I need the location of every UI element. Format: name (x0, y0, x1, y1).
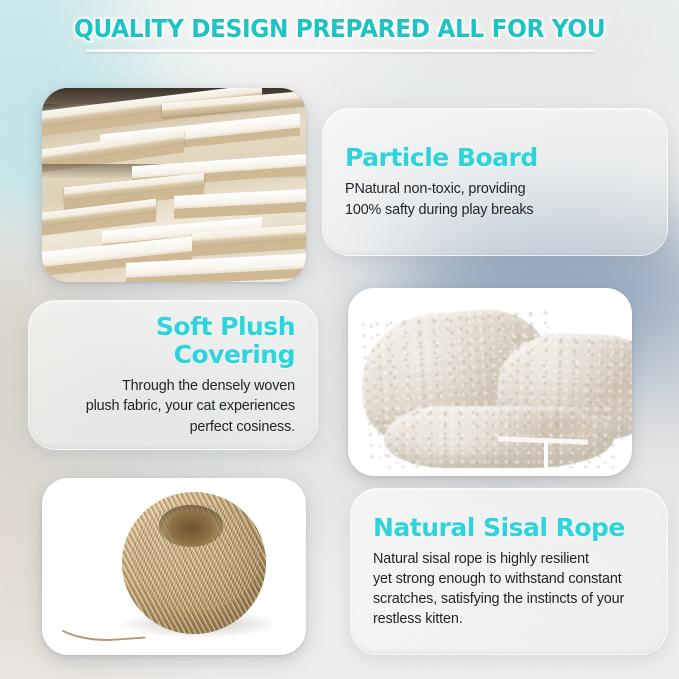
feature-heading-sisal-rope: Natural Sisal Rope (373, 514, 645, 542)
feature-heading-particle-board: Particle Board (345, 144, 645, 172)
feature-image-soft-plush (348, 288, 632, 476)
page-title: QUALITY DESIGN PREPARED ALL FOR YOU (74, 14, 605, 43)
feature-body-soft-plush: Through the densely woven plush fabric, … (51, 376, 295, 436)
feature-body-particle-board: PNatural non-toxic, providing 100% safty… (345, 179, 645, 219)
feature-body-line: 100% safty during play breaks (345, 200, 645, 220)
feature-body-line: PNatural non-toxic, providing (345, 179, 645, 199)
infographic-canvas: QUALITY DESIGN PREPARED ALL FOR YOU (0, 0, 679, 679)
feature-body-line: scratches, satisfying the instincts of y… (373, 589, 645, 609)
feature-body-line: Through the densely woven (51, 376, 295, 396)
feature-body-line: plush fabric, your cat experiences (51, 396, 295, 416)
feature-body-line: Natural sisal rope is highly resilient (373, 549, 645, 569)
headline-block: QUALITY DESIGN PREPARED ALL FOR YOU (0, 14, 679, 52)
feature-body-line: restless kitten. (373, 609, 645, 629)
feature-body-sisal-rope: Natural sisal rope is highly resilient y… (373, 549, 645, 630)
feature-card-particle-board: Particle Board PNatural non-toxic, provi… (322, 108, 668, 256)
feature-image-sisal-rope (42, 478, 306, 655)
feature-image-particle-board (42, 88, 306, 282)
feature-body-line: perfect cosiness. (51, 417, 295, 437)
feature-body-line: yet strong enough to withstand constant (373, 569, 645, 589)
feature-card-soft-plush: Soft Plush Covering Through the densely … (28, 300, 318, 450)
title-underline (86, 49, 594, 52)
feature-card-sisal-rope: Natural Sisal Rope Natural sisal rope is… (350, 488, 668, 655)
feature-heading-soft-plush: Soft Plush Covering (51, 313, 295, 369)
